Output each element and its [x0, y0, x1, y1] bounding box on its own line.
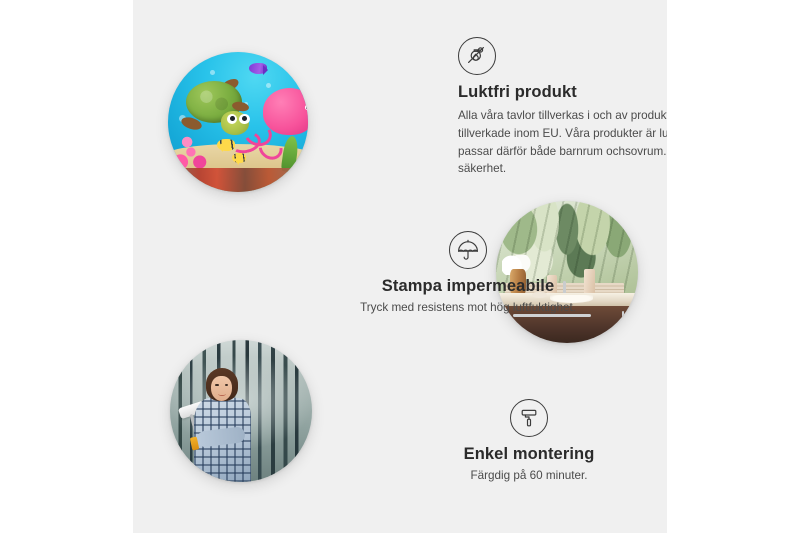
underwater-scene	[168, 52, 308, 192]
feature-odourless: Luktfri produkt Alla våra tavlor tillver…	[458, 37, 667, 178]
bubble-icon	[210, 70, 215, 75]
feature-title: Luktfri produkt	[458, 83, 667, 102]
ocean-floor-strip	[168, 168, 308, 192]
forest-mural-scene	[170, 340, 312, 482]
yellow-fish-icon	[232, 153, 246, 163]
feature-mounting: Enkel montering Färgdig på 60 minuter.	[429, 399, 629, 485]
content-panel: Luktfri produkt Alla våra tavlor tillver…	[133, 0, 667, 533]
turtle-eye	[239, 114, 250, 125]
yellow-fish-icon	[217, 139, 235, 152]
feature-body: Alla våra tavlor tillverkas i och av pro…	[458, 107, 667, 178]
screenshot-canvas: Luktfri produkt Alla våra tavlor tillver…	[0, 0, 800, 533]
feature-title: Stampa impermeabile	[333, 277, 603, 296]
feature-title: Enkel montering	[429, 445, 629, 464]
feature-body: Tryck med resistens mot hög luftfuktighe…	[333, 299, 603, 317]
underwater-cartoon-photo[interactable]	[168, 52, 308, 192]
bubble-icon	[266, 83, 271, 88]
paint-roller-icon	[510, 399, 548, 437]
feature-body: Färgdig på 60 minuter.	[429, 467, 629, 485]
octopus-head	[263, 88, 308, 134]
purple-fish-icon	[249, 63, 267, 74]
woman-paint-roller-photo[interactable]	[170, 340, 312, 482]
umbrella-icon	[449, 231, 487, 269]
feature-waterproof: Stampa impermeabile Tryck med resistens …	[333, 231, 603, 317]
octopus-eye	[305, 105, 308, 109]
coral-icon	[172, 130, 214, 169]
no-fragrance-icon	[458, 37, 496, 75]
